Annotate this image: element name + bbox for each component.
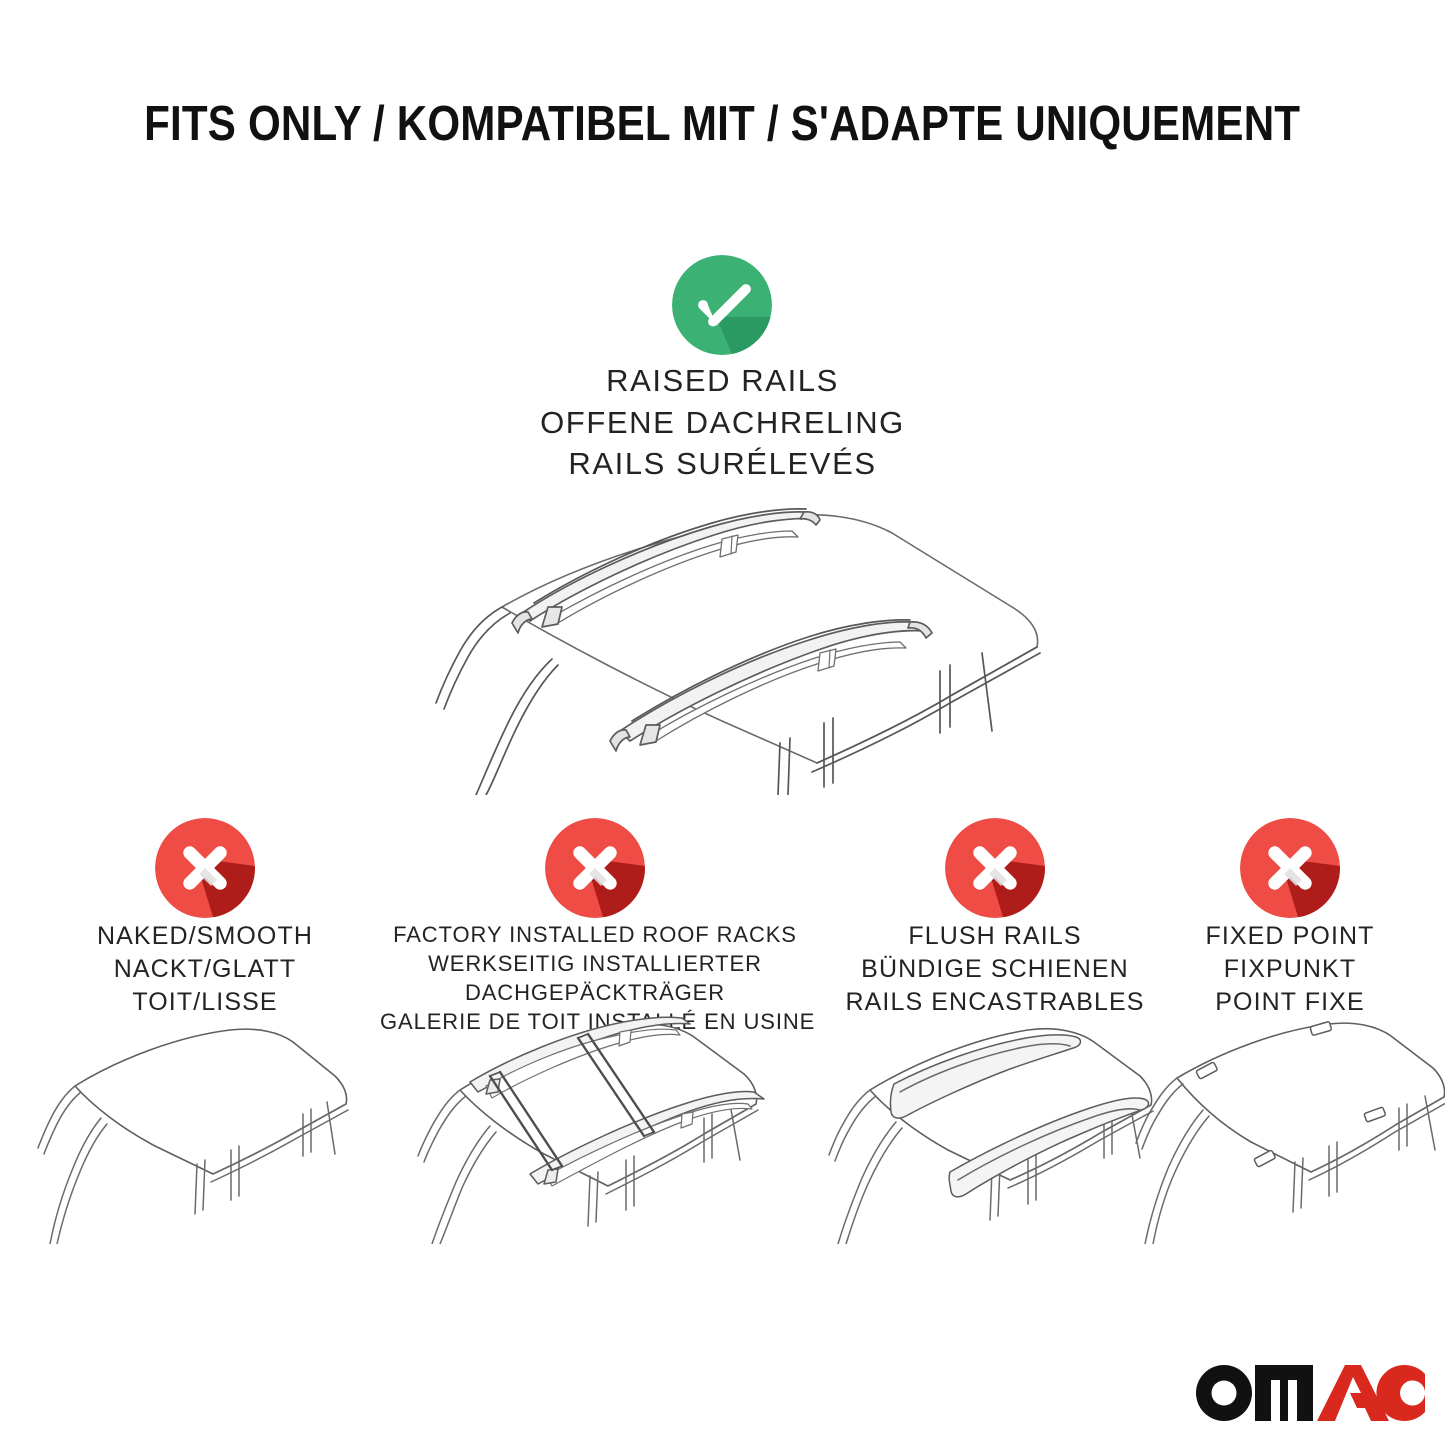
cross-circle-icon	[545, 818, 645, 918]
car-roof-bare-illustration	[35, 1014, 375, 1244]
car-roof-with-factory-crossbars-illustration	[398, 1004, 798, 1244]
flush-rails-labels: FLUSH RAILS BÜNDIGE SCHIENEN RAILS ENCAS…	[825, 920, 1165, 1019]
flush-rails-label-en: FLUSH RAILS	[825, 920, 1165, 953]
fixed-point-label-de: FIXPUNKT	[1120, 953, 1445, 986]
car-roof-with-raised-rails-illustration	[392, 495, 1072, 795]
cross-circle-icon	[155, 818, 255, 918]
compatible-label-de: OFFENE DACHRELING	[0, 402, 1445, 444]
fixed-point-labels: FIXED POINT FIXPUNKT POINT FIXE	[1120, 920, 1445, 1019]
header: FITS ONLY / KOMPATIBEL MIT / S'ADAPTE UN…	[0, 98, 1445, 152]
check-circle-icon	[672, 255, 772, 355]
compatible-label-fr: RAILS SURÉLEVÉS	[0, 443, 1445, 485]
omac-logo	[1193, 1360, 1425, 1422]
naked-smooth-labels: NAKED/SMOOTH NACKT/GLATT TOIT/LISSE	[35, 920, 375, 1019]
compatible-labels: RAISED RAILS OFFENE DACHRELING RAILS SUR…	[0, 360, 1445, 485]
compatible-label-en: RAISED RAILS	[0, 360, 1445, 402]
car-roof-with-fixed-points-illustration	[1115, 1014, 1445, 1244]
cross-circle-icon	[1240, 818, 1340, 918]
factory-racks-label-en: FACTORY INSTALLED ROOF RACKS	[380, 920, 810, 949]
fixed-point-label-en: FIXED POINT	[1120, 920, 1445, 953]
factory-racks-label-de-2: DACHGEPÄCKTRÄGER	[380, 978, 810, 1007]
page-title: FITS ONLY / KOMPATIBEL MIT / S'ADAPTE UN…	[144, 98, 1300, 152]
flush-rails-label-de: BÜNDIGE SCHIENEN	[825, 953, 1165, 986]
cross-circle-icon	[945, 818, 1045, 918]
naked-smooth-label-en: NAKED/SMOOTH	[35, 920, 375, 953]
naked-smooth-label-de: NACKT/GLATT	[35, 953, 375, 986]
factory-racks-label-de-1: WERKSEITIG INSTALLIERTER	[380, 949, 810, 978]
